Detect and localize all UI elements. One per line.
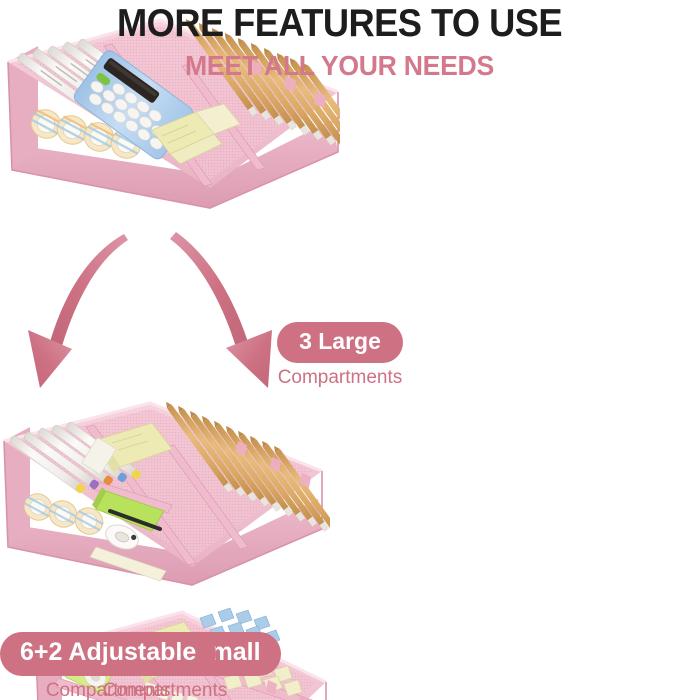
badge-caption-6-2-adjustable: Compartments	[0, 680, 216, 700]
badge-caption-3-large: Compartments	[219, 367, 461, 389]
badge-pill-3-large: 3 Large	[277, 322, 403, 363]
organizer-tray-2-large-2-small	[0, 395, 679, 600]
page-title: MORE FEATURES TO USE	[24, 2, 655, 46]
arrow-to-bottom-left-icon	[0, 230, 130, 390]
page-subtitle: MEET ALL YOUR NEEDS	[17, 50, 662, 82]
infographic-page: MORE FEATURES TO USE MEET ALL YOUR NEEDS	[0, 0, 679, 700]
badge-pill-6-2-adjustable: 6+2 Adjustable	[0, 632, 216, 676]
callout-badge-6-2-adjustable: 6+2 Adjustable Compartments	[0, 632, 216, 700]
callout-badge-3-large: 3 Large Compartments	[219, 322, 461, 389]
